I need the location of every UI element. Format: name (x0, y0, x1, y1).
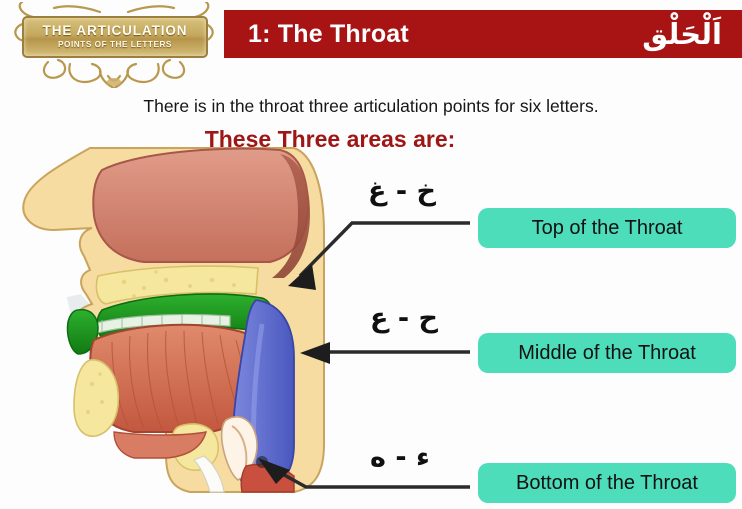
slide-canvas: Noora (0, 0, 742, 509)
logo-badge: THE ARTICULATION POINTS OF THE LETTERS (8, 2, 220, 88)
title-arabic: اَلْحَلْق (642, 17, 728, 51)
areas-heading: These Three areas are: (0, 126, 660, 153)
arabic-letters-middle: ح - ع (370, 303, 438, 334)
arabic-letters-top: خ - غ (368, 176, 436, 207)
logo-title-line-1: THE ARTICULATION (43, 24, 188, 38)
mandible-bone (74, 360, 118, 436)
label-box-middle-of-throat[interactable]: Middle of the Throat (478, 333, 736, 373)
logo-title-line-2: POINTS OF THE LETTERS (58, 39, 172, 50)
label-box-top-of-throat[interactable]: Top of the Throat (478, 208, 736, 248)
title-english: 1: The Throat (248, 20, 409, 49)
anatomy-diagram (0, 144, 350, 496)
slide-header: THE ARTICULATION POINTS OF THE LETTERS 1… (0, 0, 742, 92)
marker-bottom-throat (256, 456, 268, 468)
nasal-cavity-region (93, 149, 308, 262)
label-box-bottom-of-throat[interactable]: Bottom of the Throat (478, 463, 736, 503)
arabic-letters-bottom: ء - ه (370, 442, 430, 473)
title-banner: 1: The Throat اَلْحَلْق (224, 10, 742, 58)
logo-plate: THE ARTICULATION POINTS OF THE LETTERS (22, 16, 208, 58)
intro-sentence: There is in the throat three articulatio… (0, 96, 742, 117)
